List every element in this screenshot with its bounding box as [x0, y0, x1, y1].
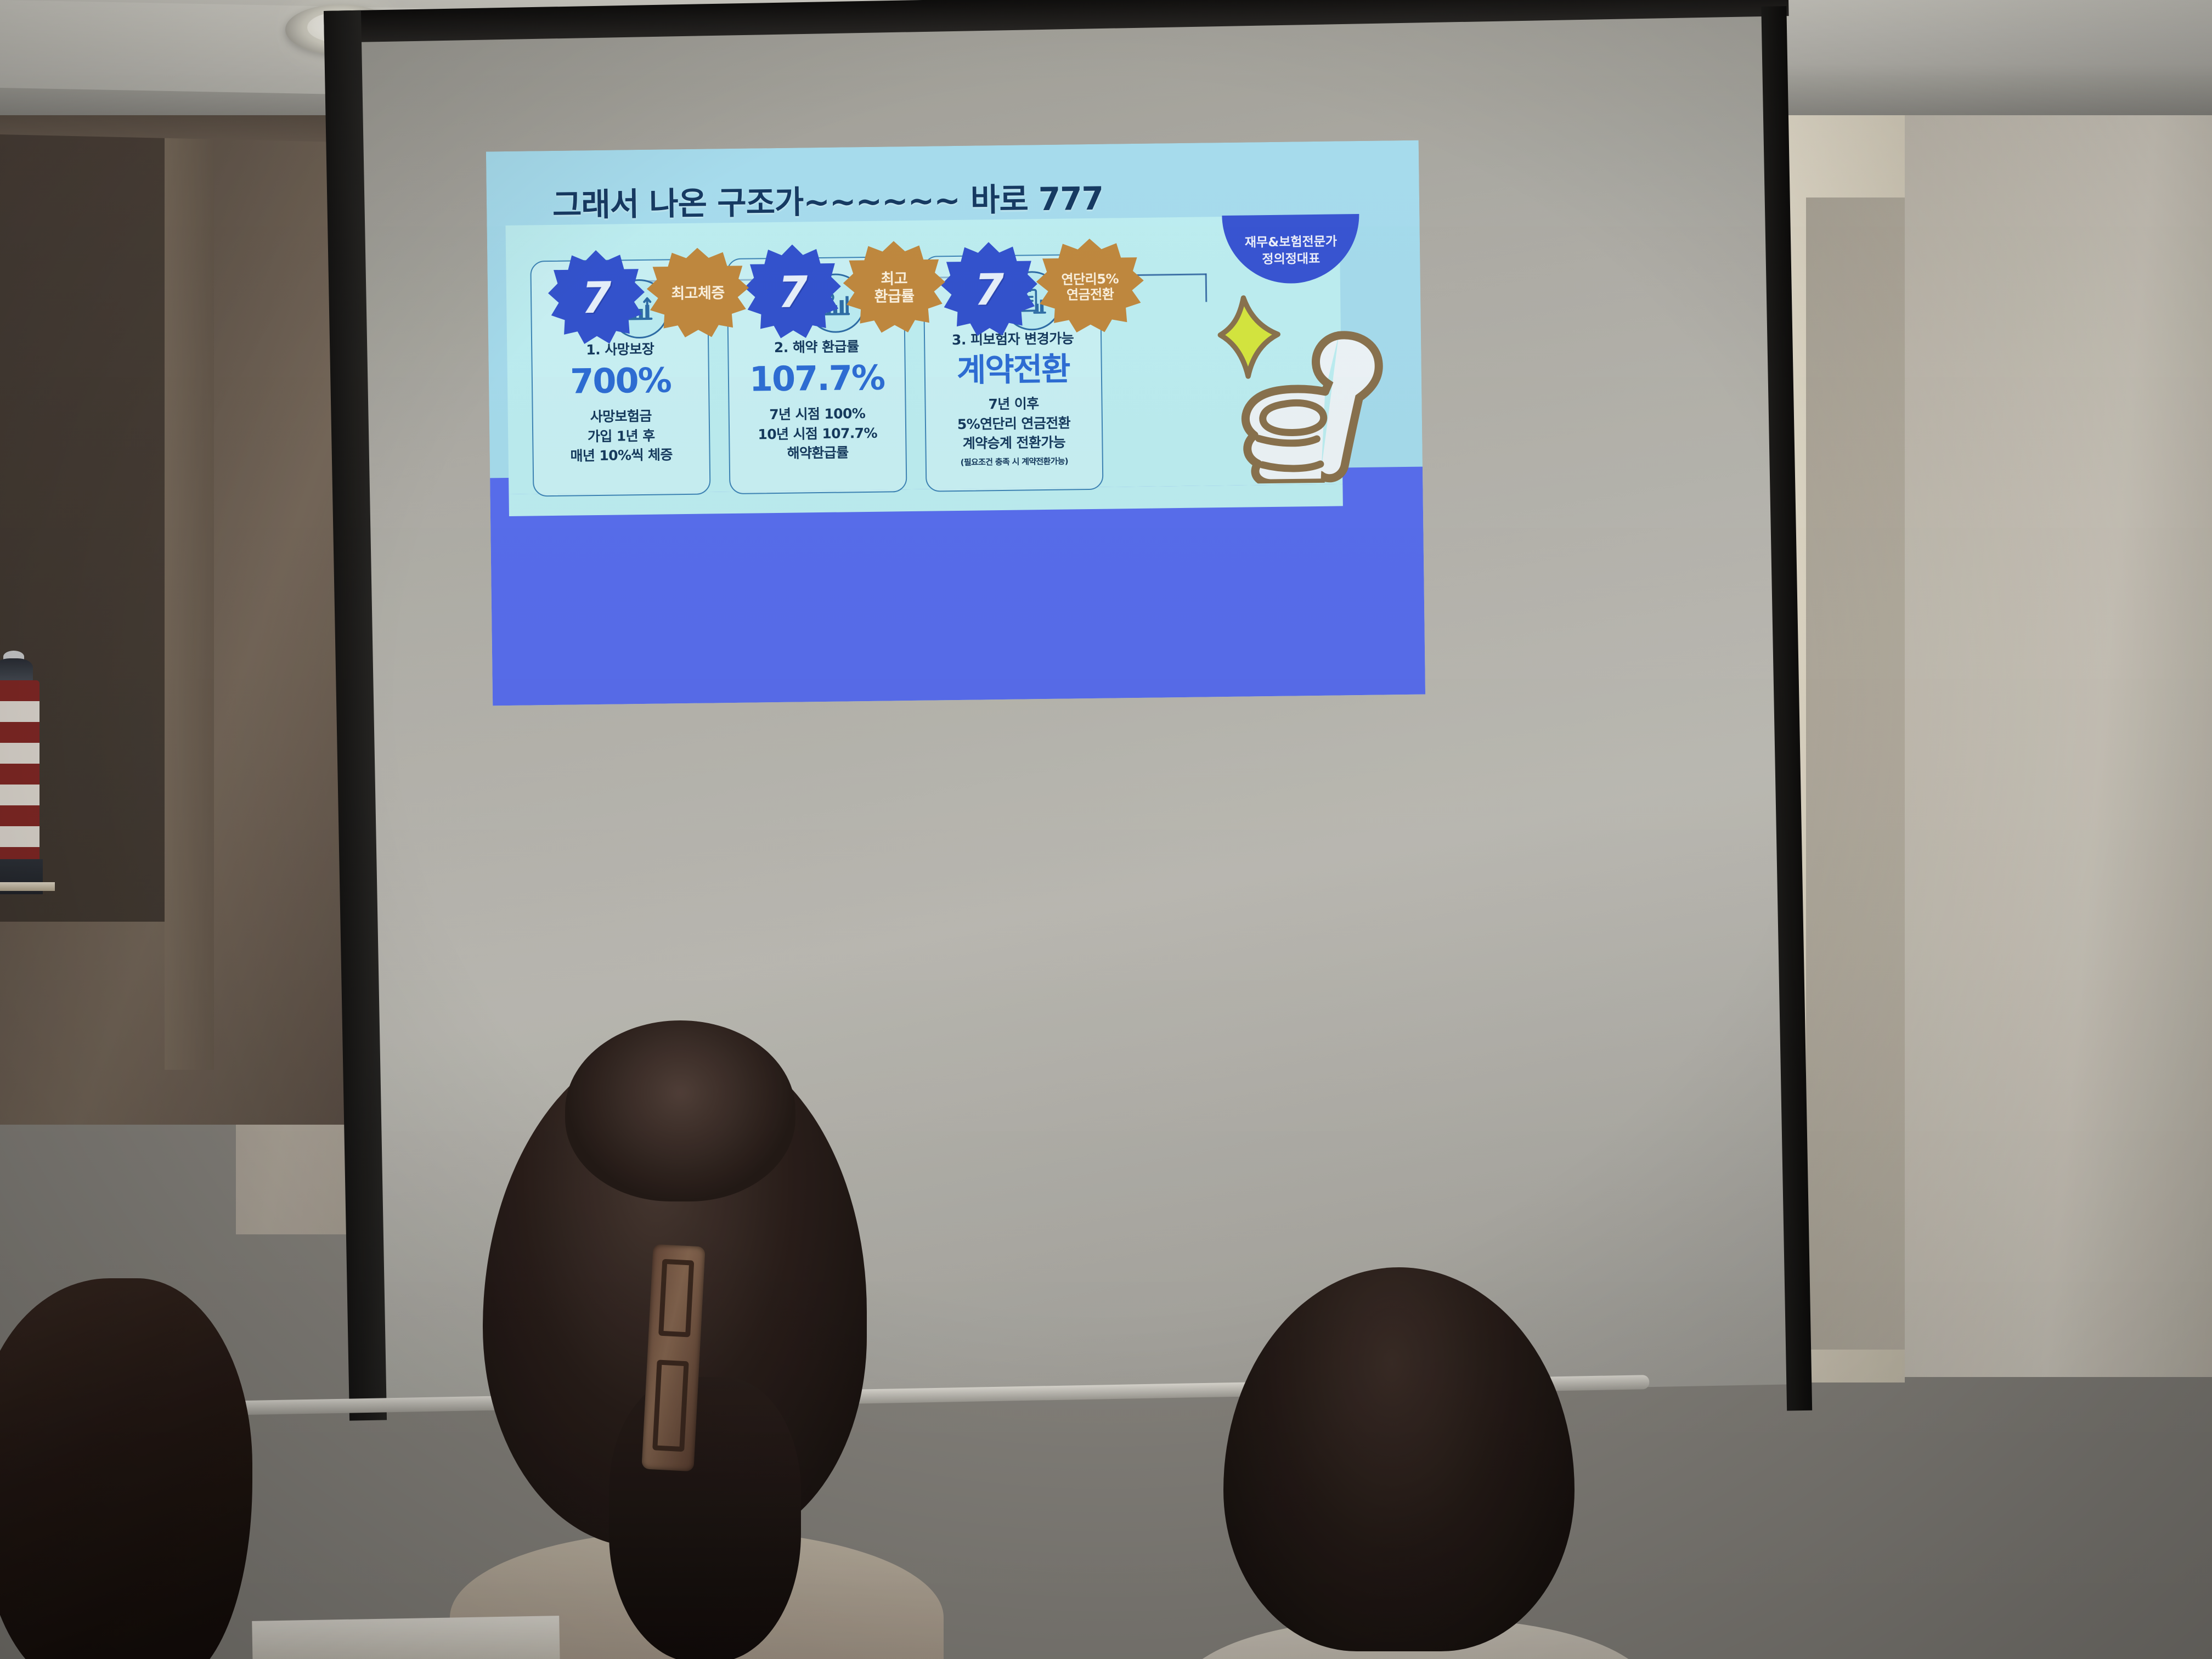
seven-label-1: 7 — [582, 277, 612, 320]
slide-background: 그래서 나온 구조가~~~~~~ 바로 777 재무&보험전문가 정의정대표 — [486, 140, 1425, 706]
photo-scene: 그래서 나온 구조가~~~~~~ 바로 777 재무&보험전문가 정의정대표 — [0, 0, 2212, 1659]
card-2-value: 107.7% — [729, 360, 905, 397]
card-3-line-3: 계약승계 전환가능 — [926, 432, 1102, 454]
card-1-kicker: 1. 사망보장 — [532, 338, 708, 360]
audience-person-center — [483, 1037, 900, 1659]
sparkle-icon — [1220, 297, 1278, 376]
badge-annuity-l2: 연금전환 — [1066, 286, 1114, 302]
speaker-badge-line2: 정의정대표 — [1262, 250, 1320, 268]
right-person-hair — [1223, 1267, 1575, 1651]
card-2-line-3: 해약환급률 — [730, 442, 905, 464]
card-3-value: 계약전환 — [925, 353, 1101, 387]
table-edge — [252, 1616, 560, 1659]
wall-shelf — [0, 882, 55, 891]
badge-max-refund-l2: 환급률 — [874, 288, 914, 306]
badge-max-increase-label: 최고체증 — [671, 285, 725, 303]
card-1-value: 700% — [533, 363, 709, 399]
projected-slide: 그래서 나온 구조가~~~~~~ 바로 777 재무&보험전문가 정의정대표 — [486, 140, 1425, 706]
left-wall-trim — [165, 110, 214, 1070]
slide-title: 그래서 나온 구조가~~~~~~ 바로 777 — [552, 173, 1103, 225]
card-1-lines: 사망보험금 가입 1년 후 매년 10%씩 체증 — [533, 406, 709, 466]
card-1-line-1: 사망보험금 — [533, 406, 709, 427]
card-1-line-3: 매년 10%씩 체증 — [533, 445, 709, 466]
badge-max-refund-l1: 최고 — [881, 270, 907, 288]
badge-annuity-l1: 연단리5% — [1061, 271, 1119, 287]
card-3-line-2: 5%연단리 연금전환 — [926, 413, 1102, 434]
center-person-ponytail — [609, 1377, 801, 1659]
thumbs-up-icon — [1211, 284, 1394, 484]
card-2-line-1: 7년 시점 100% — [730, 403, 905, 425]
speaker-badge-line1: 재무&보험전문가 — [1245, 234, 1338, 251]
center-person-bun — [565, 1020, 795, 1201]
card-3-kicker: 3. 피보험자 변경가능 — [925, 328, 1101, 349]
card-3-line-1: 7년 이후 — [926, 393, 1101, 415]
badge-annuity-label: 연단리5% 연금전환 — [1061, 271, 1119, 303]
seven-label-2: 7 — [778, 271, 808, 314]
audience-person-left — [0, 1278, 263, 1659]
left-person-hair — [0, 1278, 252, 1659]
lighthouse-figurine-icon — [0, 658, 41, 894]
seven-label-3: 7 — [974, 269, 1005, 312]
card-2-kicker: 2. 해약 환급률 — [729, 335, 904, 357]
badge-max-refund-label: 최고 환급률 — [874, 270, 915, 306]
card-1-line-2: 가입 1년 후 — [533, 425, 709, 447]
audience-person-right — [1223, 1267, 1607, 1659]
card-2-lines: 7년 시점 100% 10년 시점 107.7% 해약환급률 — [730, 403, 906, 464]
card-3-lines: 7년 이후 5%연단리 연금전환 계약승계 전환가능 — [926, 393, 1102, 454]
connector-drop-4 — [1205, 273, 1207, 302]
card-3-note: (필요조건 충족 시 계약전환가능) — [927, 454, 1102, 468]
card-2-line-2: 10년 시점 107.7% — [730, 423, 905, 444]
